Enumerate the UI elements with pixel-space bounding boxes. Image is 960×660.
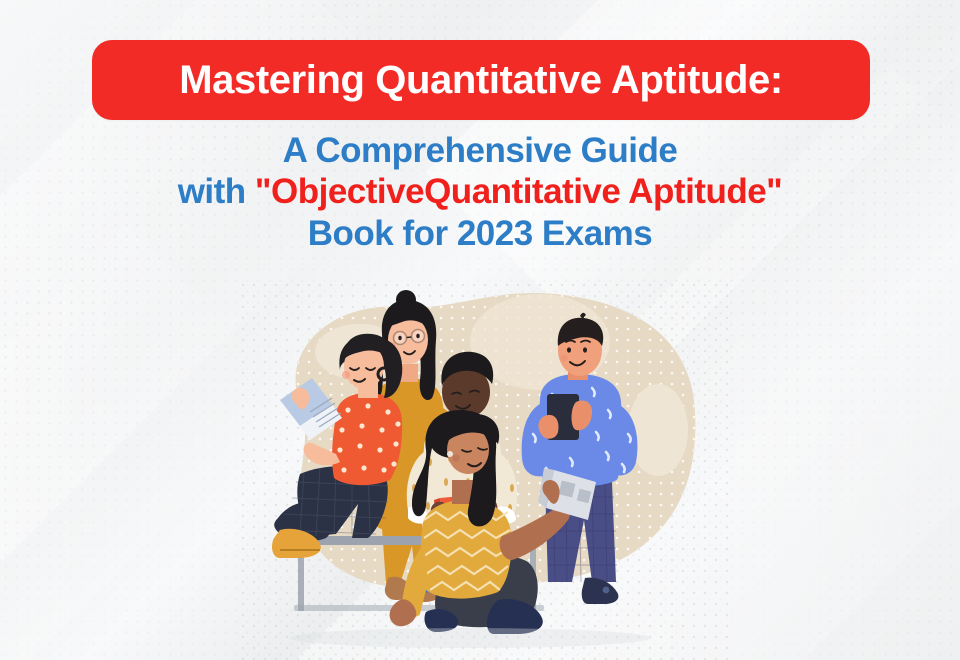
earring — [447, 451, 453, 457]
banner-title-text: Mastering Quantitative Aptitude: — [179, 60, 783, 100]
subtitle-line-2-prefix: with — [178, 172, 255, 211]
subtitle-line-2-book-title: "ObjectiveQuantitative Aptitude" — [255, 172, 782, 211]
subtitle-line-1: A Comprehensive Guide — [0, 130, 960, 171]
subtitle-line-3: Book for 2023 Exams — [0, 213, 960, 254]
subtitle-line-2: with "ObjectiveQuantitative Aptitude" — [0, 171, 960, 212]
people-reading-illustration — [240, 282, 730, 660]
poster-canvas: Mastering Quantitative Aptitude: A Compr… — [0, 0, 960, 660]
subtitle-block: A Comprehensive Guide with "ObjectiveQua… — [0, 130, 960, 254]
title-banner: Mastering Quantitative Aptitude: — [92, 40, 870, 120]
